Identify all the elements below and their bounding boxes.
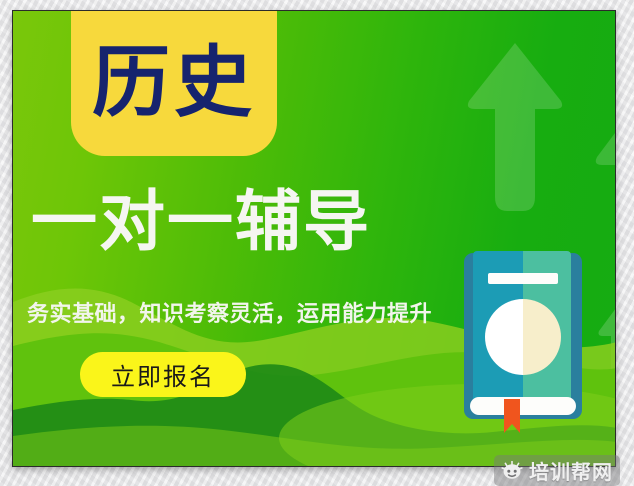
subject-badge-label: 历史: [92, 44, 256, 122]
subtitle-text: 务实基础，知识考察灵活，运用能力提升: [27, 296, 487, 328]
enroll-now-button-label: 立即报名: [111, 357, 215, 392]
enroll-now-button[interactable]: 立即报名: [80, 352, 246, 397]
page-root: 历史 一对一辅导 务实基础，知识考察灵活，运用能力提升 立即报名: [0, 0, 634, 486]
page-title: 一对一辅导: [31, 187, 481, 256]
subject-badge: 历史: [71, 10, 277, 156]
site-watermark: 培训帮网: [494, 455, 620, 486]
promo-banner-card: 历史 一对一辅导 务实基础，知识考察灵活，运用能力提升 立即报名: [12, 10, 616, 467]
book-illustration: [453, 247, 593, 437]
smiley-sun-icon: [501, 461, 523, 481]
site-watermark-text: 培训帮网: [529, 456, 613, 485]
up-arrow-icon-secondary: [593, 101, 616, 261]
